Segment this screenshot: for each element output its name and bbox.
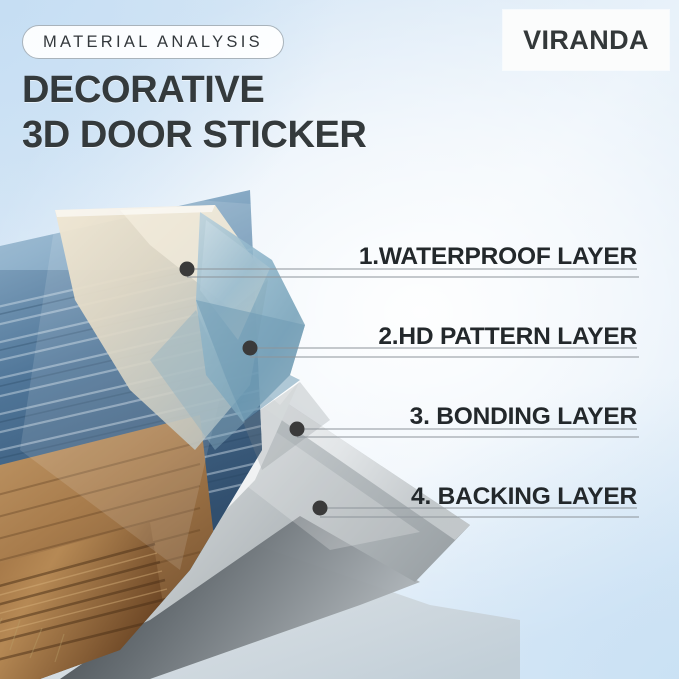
callout-backing-label: 4. BACKING LAYER (411, 483, 637, 511)
callout-bonding-label: 3. BONDING LAYER (410, 403, 637, 431)
callout-hd-pattern-label: 2.HD PATTERN LAYER (378, 323, 637, 351)
dot-waterproof (180, 262, 195, 277)
callout-hd-pattern: 2.HD PATTERN LAYER (217, 323, 637, 351)
callout-dots (180, 262, 328, 516)
callout-waterproof-label: 1.WATERPROOF LAYER (359, 243, 637, 271)
page-title: DECORATIVE 3D DOOR STICKER (22, 68, 366, 158)
page-title-line-2: 3D DOOR STICKER (22, 113, 366, 158)
page-title-line-1: DECORATIVE (22, 68, 366, 113)
callout-bonding: 3. BONDING LAYER (217, 403, 637, 431)
callout-backing: 4. BACKING LAYER (217, 483, 637, 511)
callout-waterproof: 1.WATERPROOF LAYER (217, 243, 637, 271)
brand-logo: VIRANDA (503, 10, 669, 70)
brand-logo-text: VIRANDA (523, 25, 649, 56)
infographic-canvas: 1.WATERPROOF LAYER 2.HD PATTERN LAYER 3.… (0, 0, 679, 679)
material-analysis-badge-label: MATERIAL ANALYSIS (43, 33, 263, 52)
material-analysis-badge: MATERIAL ANALYSIS (22, 25, 284, 59)
